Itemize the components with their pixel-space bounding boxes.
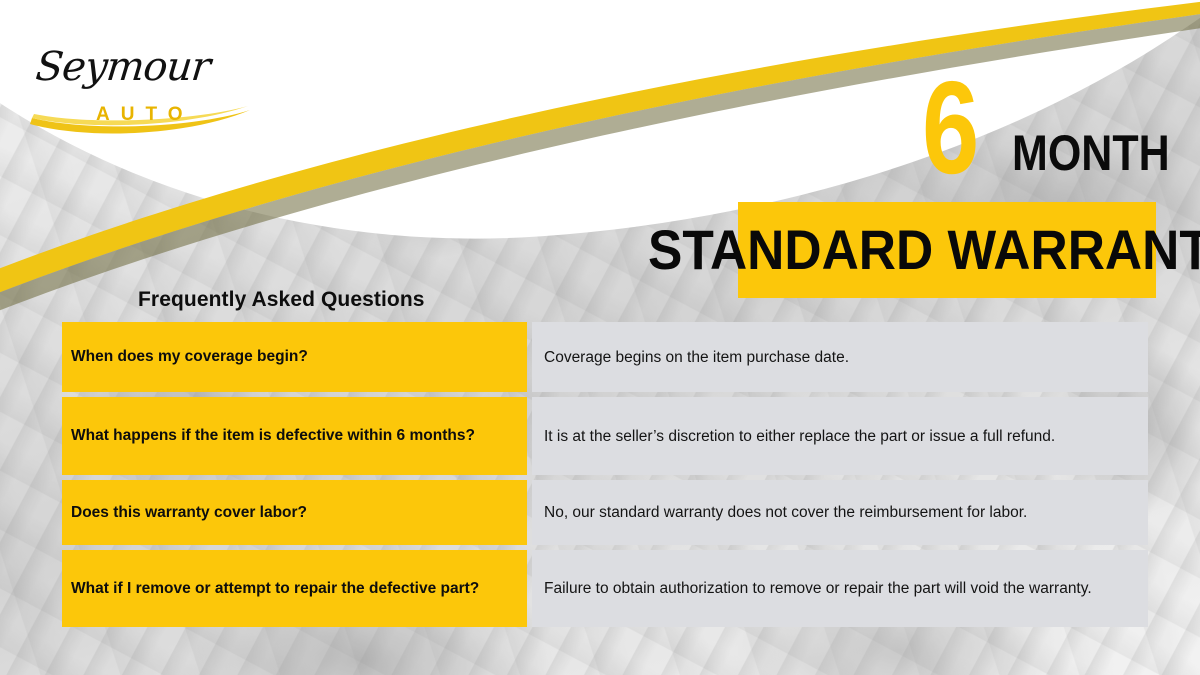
faq-answer-text: No, our standard warranty does not cover…: [544, 502, 1136, 523]
warranty-slide: Seymour AUTO 6 MONTH STANDARD WARRANTY F…: [0, 0, 1200, 675]
logo-sub-wordmark: AUTO: [96, 104, 193, 126]
faq-answer-cell: Coverage begins on the item purchase dat…: [532, 322, 1148, 392]
faq-answer-cell: Failure to obtain authorization to remov…: [532, 550, 1148, 627]
faq-table: When does my coverage begin? Coverage be…: [62, 322, 1148, 627]
faq-answer-cell: No, our standard warranty does not cover…: [532, 480, 1148, 545]
faq-question-cell: What happens if the item is defective wi…: [62, 397, 527, 475]
faq-row: Does this warranty cover labor? No, our …: [62, 480, 1148, 545]
faq-row: When does my coverage begin? Coverage be…: [62, 322, 1148, 392]
logo-wordmark: Seymour: [34, 44, 212, 90]
faq-answer-text: It is at the seller’s discretion to eith…: [544, 426, 1136, 447]
duration-number: 6: [922, 62, 978, 194]
faq-question-cell: What if I remove or attempt to repair th…: [62, 550, 527, 627]
standard-warranty-banner: STANDARD WARRANTY: [738, 202, 1156, 298]
faq-heading: Frequently Asked Questions: [138, 288, 425, 312]
faq-question-text: What if I remove or attempt to repair th…: [71, 579, 479, 599]
faq-question-cell: When does my coverage begin?: [62, 322, 527, 392]
faq-answer-text: Failure to obtain authorization to remov…: [544, 578, 1136, 599]
faq-row: What if I remove or attempt to repair th…: [62, 550, 1148, 627]
banner-title: STANDARD WARRANTY: [648, 222, 1200, 278]
brand-logo: Seymour AUTO: [18, 20, 258, 135]
faq-question-text: What happens if the item is defective wi…: [71, 426, 475, 446]
faq-answer-cell: It is at the seller’s discretion to eith…: [532, 397, 1148, 475]
faq-row: What happens if the item is defective wi…: [62, 397, 1148, 475]
faq-answer-text: Coverage begins on the item purchase dat…: [544, 347, 1136, 368]
faq-question-text: Does this warranty cover labor?: [71, 503, 307, 523]
duration-unit: MONTH: [1012, 128, 1170, 178]
faq-question-cell: Does this warranty cover labor?: [62, 480, 527, 545]
faq-question-text: When does my coverage begin?: [71, 347, 308, 367]
